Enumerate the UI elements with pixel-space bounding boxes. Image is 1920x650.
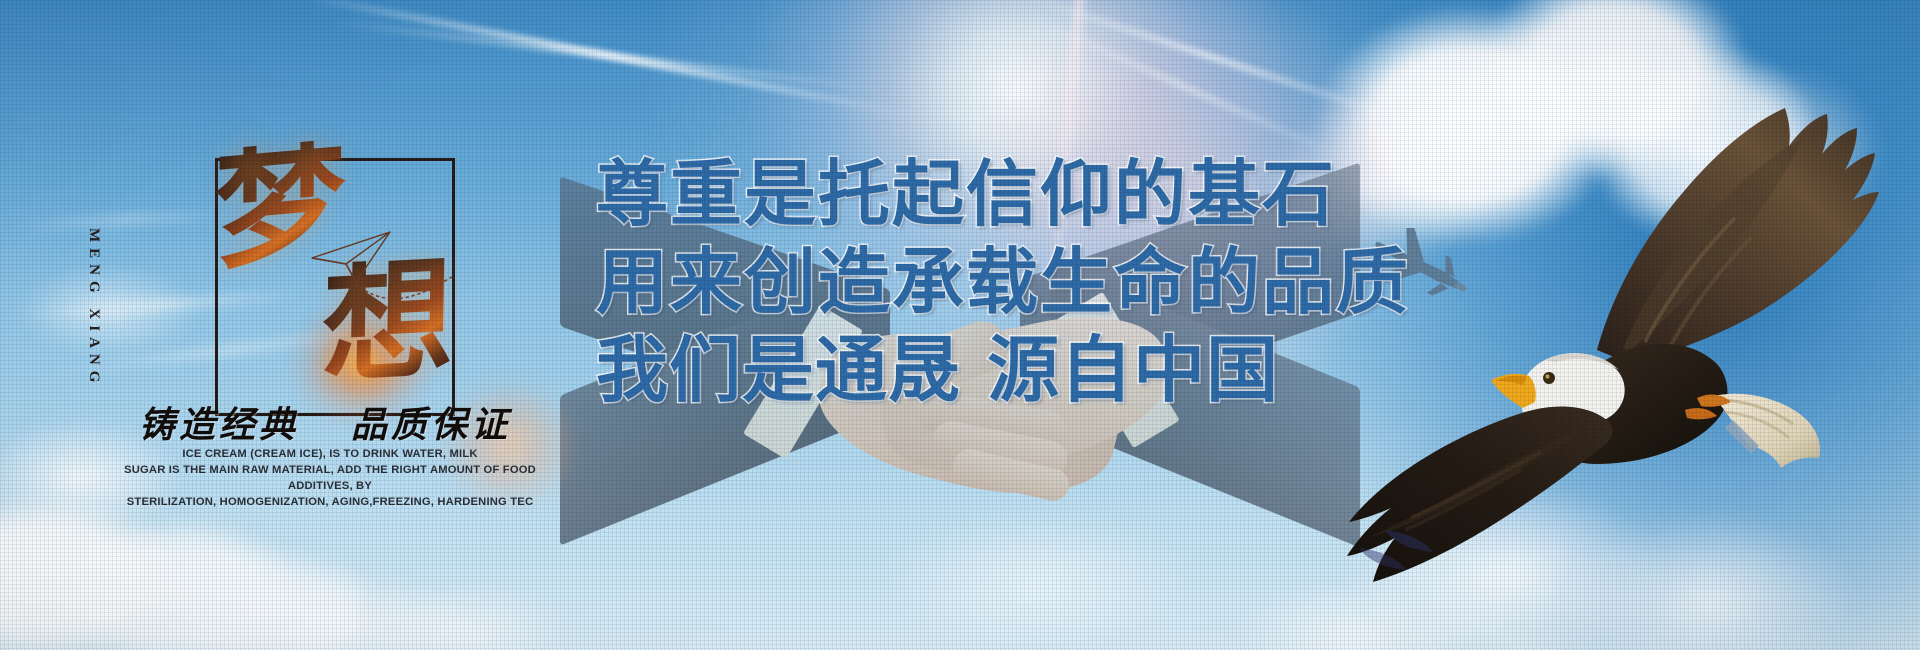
slogan-line-3: 我们是通晟 源自中国 bbox=[596, 326, 1316, 414]
slogan-line-2: 用来创造承载生命的品质 bbox=[596, 238, 1316, 326]
logo-english-description: ICE CREAM (CREAM ICE), IS TO DRINK WATER… bbox=[100, 446, 560, 510]
paper-plane-icon bbox=[306, 206, 456, 316]
slogan-block: 尊重是托起信仰的基石 用来创造承载生命的品质 我们是通晟 源自中国 bbox=[596, 150, 1316, 414]
english-line-1: ICE CREAM (CREAM ICE), IS TO DRINK WATER… bbox=[100, 446, 560, 462]
logo-tagline-part2: 品质保证 bbox=[351, 396, 511, 448]
logo-pinyin-label: MENG XIANG bbox=[85, 228, 102, 388]
slogan-line-1: 尊重是托起信仰的基石 bbox=[596, 150, 1316, 238]
english-line-2: SUGAR IS THE MAIN RAW MATERIAL, ADD THE … bbox=[100, 462, 560, 494]
logo-tagline: 铸造经典 品质保证 bbox=[110, 396, 540, 448]
eagle-icon bbox=[1345, 60, 1920, 620]
banner-stage: MENG XIANG 梦 想 铸造经典 品质保证 ICE CREAM (CREA… bbox=[0, 0, 1920, 650]
english-line-3: STERILIZATION, HOMOGENIZATION, AGING,FRE… bbox=[100, 494, 560, 510]
dream-logo-block: MENG XIANG 梦 想 铸造经典 品质保证 ICE CREAM (CREA… bbox=[110, 120, 540, 540]
cloud-bottom-left-2 bbox=[160, 545, 580, 650]
logo-tagline-part1: 铸造经典 bbox=[139, 396, 299, 448]
